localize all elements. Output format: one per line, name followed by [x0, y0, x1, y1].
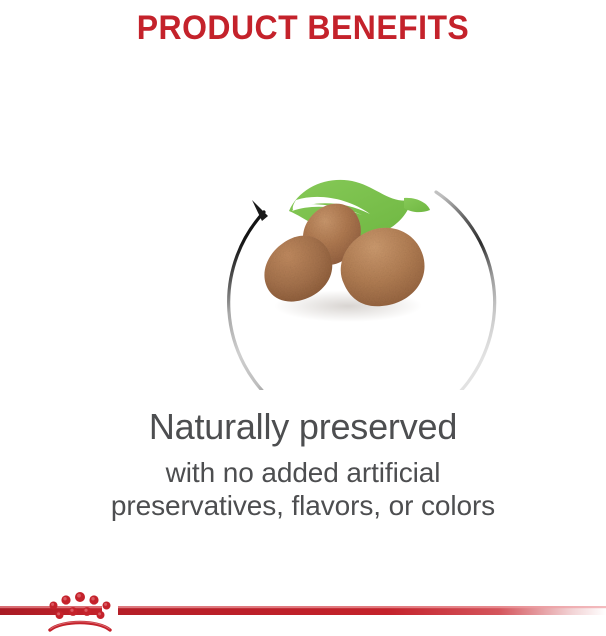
kibble-icon [248, 180, 448, 330]
page-title: PRODUCT BENEFITS [18, 8, 588, 48]
caption-subline-1: with no added artificial [0, 456, 606, 489]
caption-subline-2: preservatives, flavors, or colors [0, 489, 606, 522]
product-benefits-panel: PRODUCT BENEFITS [0, 0, 606, 636]
brand-footer-bar [0, 580, 606, 636]
kibble-pieces-group [248, 180, 448, 330]
caption-headline: Naturally preserved [0, 404, 606, 450]
caption-subtext: with no added artificial preservatives, … [0, 456, 606, 522]
hero-illustration [0, 80, 606, 390]
footer-bar-right [118, 606, 606, 615]
royal-canin-crown-icon [0, 580, 606, 636]
benefit-caption: Naturally preserved with no added artifi… [0, 404, 606, 522]
crown-base-arc [50, 622, 110, 630]
